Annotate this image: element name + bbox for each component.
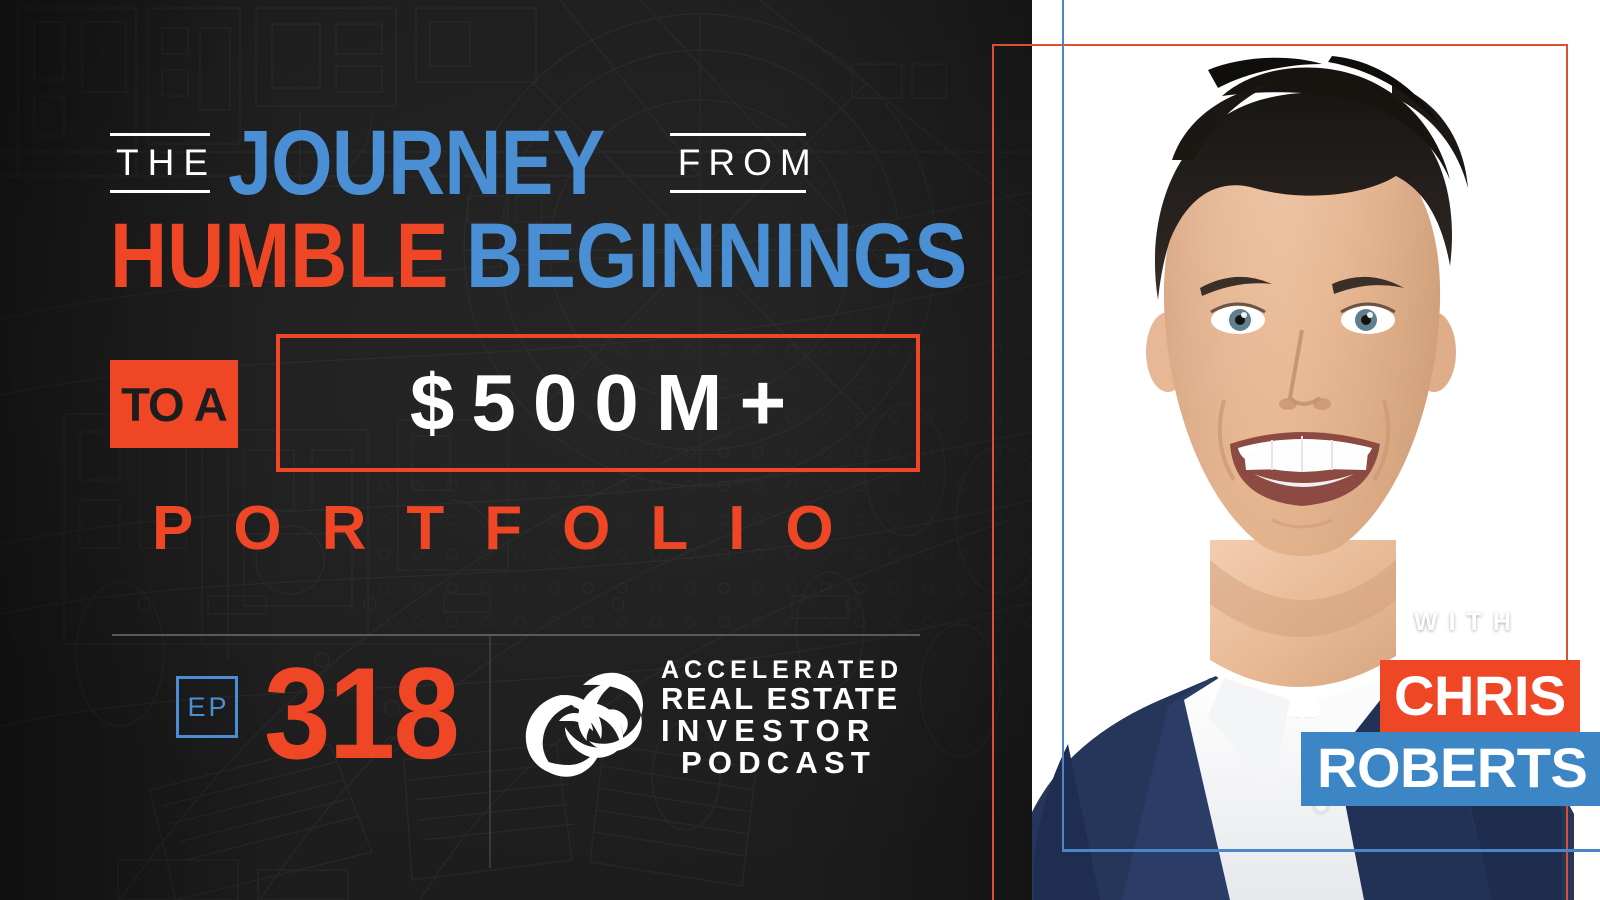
guest-last-name: ROBERTS bbox=[1301, 732, 1600, 806]
logo-line-accelerated: ACCELERATED bbox=[661, 658, 903, 684]
journey-word: JOURNEY bbox=[228, 122, 604, 204]
amount-box: $500M+ bbox=[276, 334, 920, 472]
logo-line-real-estate: REAL ESTATE bbox=[661, 683, 903, 715]
episode-number: 318 bbox=[264, 648, 458, 778]
the-label: THE bbox=[110, 136, 210, 190]
from-label-group: FROM bbox=[670, 118, 806, 208]
logo-line-investor: INVESTOR bbox=[661, 715, 903, 747]
horizontal-divider bbox=[112, 634, 920, 636]
podcast-logo: ACCELERATED REAL ESTATE INVESTOR PODCAST bbox=[517, 655, 903, 781]
episode-label: EP bbox=[184, 692, 229, 723]
podcast-cover-canvas: THE JOURNEY FROM HUMBLE BEGINNINGS TO A … bbox=[0, 0, 1600, 900]
from-label: FROM bbox=[670, 136, 806, 190]
amount-value: $500M+ bbox=[393, 363, 803, 443]
episode-label-badge: EP bbox=[176, 676, 238, 738]
humble-word: HUMBLE bbox=[110, 212, 448, 300]
episode-title: THE JOURNEY FROM HUMBLE BEGINNINGS bbox=[110, 118, 990, 300]
with-label: WITH bbox=[1414, 608, 1522, 637]
podcast-logo-text: ACCELERATED REAL ESTATE INVESTOR PODCAST bbox=[661, 658, 903, 778]
title-line-2: HUMBLE BEGINNINGS bbox=[110, 212, 990, 300]
guest-first-name: CHRIS bbox=[1380, 660, 1580, 734]
podcast-logo-mark-icon bbox=[517, 655, 649, 781]
title-line-1: THE JOURNEY FROM bbox=[110, 118, 990, 208]
amount-row: TO A $500M+ bbox=[110, 360, 920, 472]
beginnings-word: BEGINNINGS bbox=[466, 212, 967, 300]
the-label-group: THE bbox=[110, 118, 210, 208]
the-rule-bottom bbox=[110, 190, 210, 193]
logo-line-podcast: PODCAST bbox=[661, 747, 903, 779]
from-rule-bottom bbox=[670, 190, 806, 193]
portfolio-word: PORTFOLIO bbox=[152, 498, 874, 560]
vertical-divider bbox=[489, 636, 491, 868]
to-a-badge: TO A bbox=[110, 360, 238, 448]
